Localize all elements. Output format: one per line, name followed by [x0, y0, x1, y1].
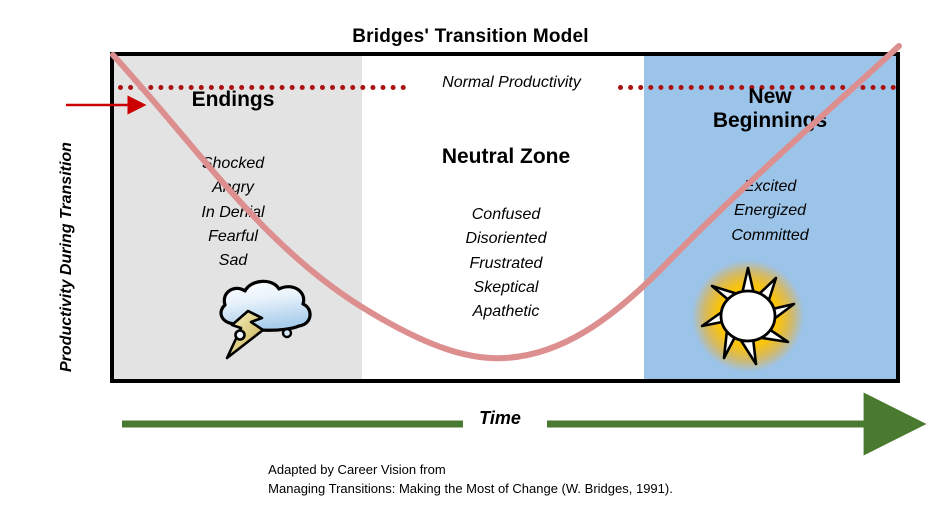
word-item: Energized — [672, 199, 868, 223]
word-item: Shocked — [133, 152, 333, 176]
stage-heading-line2: Beginnings — [672, 109, 868, 133]
word-item: Fearful — [133, 225, 333, 249]
word-item: In Denial — [133, 201, 333, 225]
word-item: Angry — [133, 176, 333, 200]
diagram-canvas: Bridges' Transition Model Productivity D… — [0, 0, 941, 527]
word-item: Frustrated — [390, 252, 622, 276]
word-item: Committed — [672, 224, 868, 248]
word-item: Skeptical — [390, 276, 622, 300]
stage-words-new-beginnings: Excited Energized Committed — [672, 175, 868, 248]
y-axis-label: Productivity During Transition — [58, 107, 76, 407]
stage-heading-endings: Endings — [133, 88, 333, 112]
credit-line-1: Adapted by Career Vision from — [268, 461, 673, 480]
stage-heading-line1: New — [672, 85, 868, 109]
credit-block: Adapted by Career Vision from Managing T… — [0, 461, 941, 499]
x-axis-label: Time — [430, 408, 570, 429]
page-title: Bridges' Transition Model — [0, 26, 941, 48]
stage-words-endings: Shocked Angry In Denial Fearful Sad — [133, 152, 333, 274]
credit-line-2: Managing Transitions: Making the Most of… — [268, 480, 673, 499]
word-item: Apathetic — [390, 300, 622, 324]
normal-productivity-label: Normal Productivity — [404, 74, 619, 92]
word-item: Confused — [390, 203, 622, 227]
stage-words-neutral-zone: Confused Disoriented Frustrated Skeptica… — [390, 203, 622, 325]
word-item: Excited — [672, 175, 868, 199]
word-item: Sad — [133, 249, 333, 273]
word-item: Disoriented — [390, 227, 622, 251]
stage-heading-neutral-zone: Neutral Zone — [390, 145, 622, 169]
stage-heading-new-beginnings: New Beginnings — [672, 85, 868, 132]
